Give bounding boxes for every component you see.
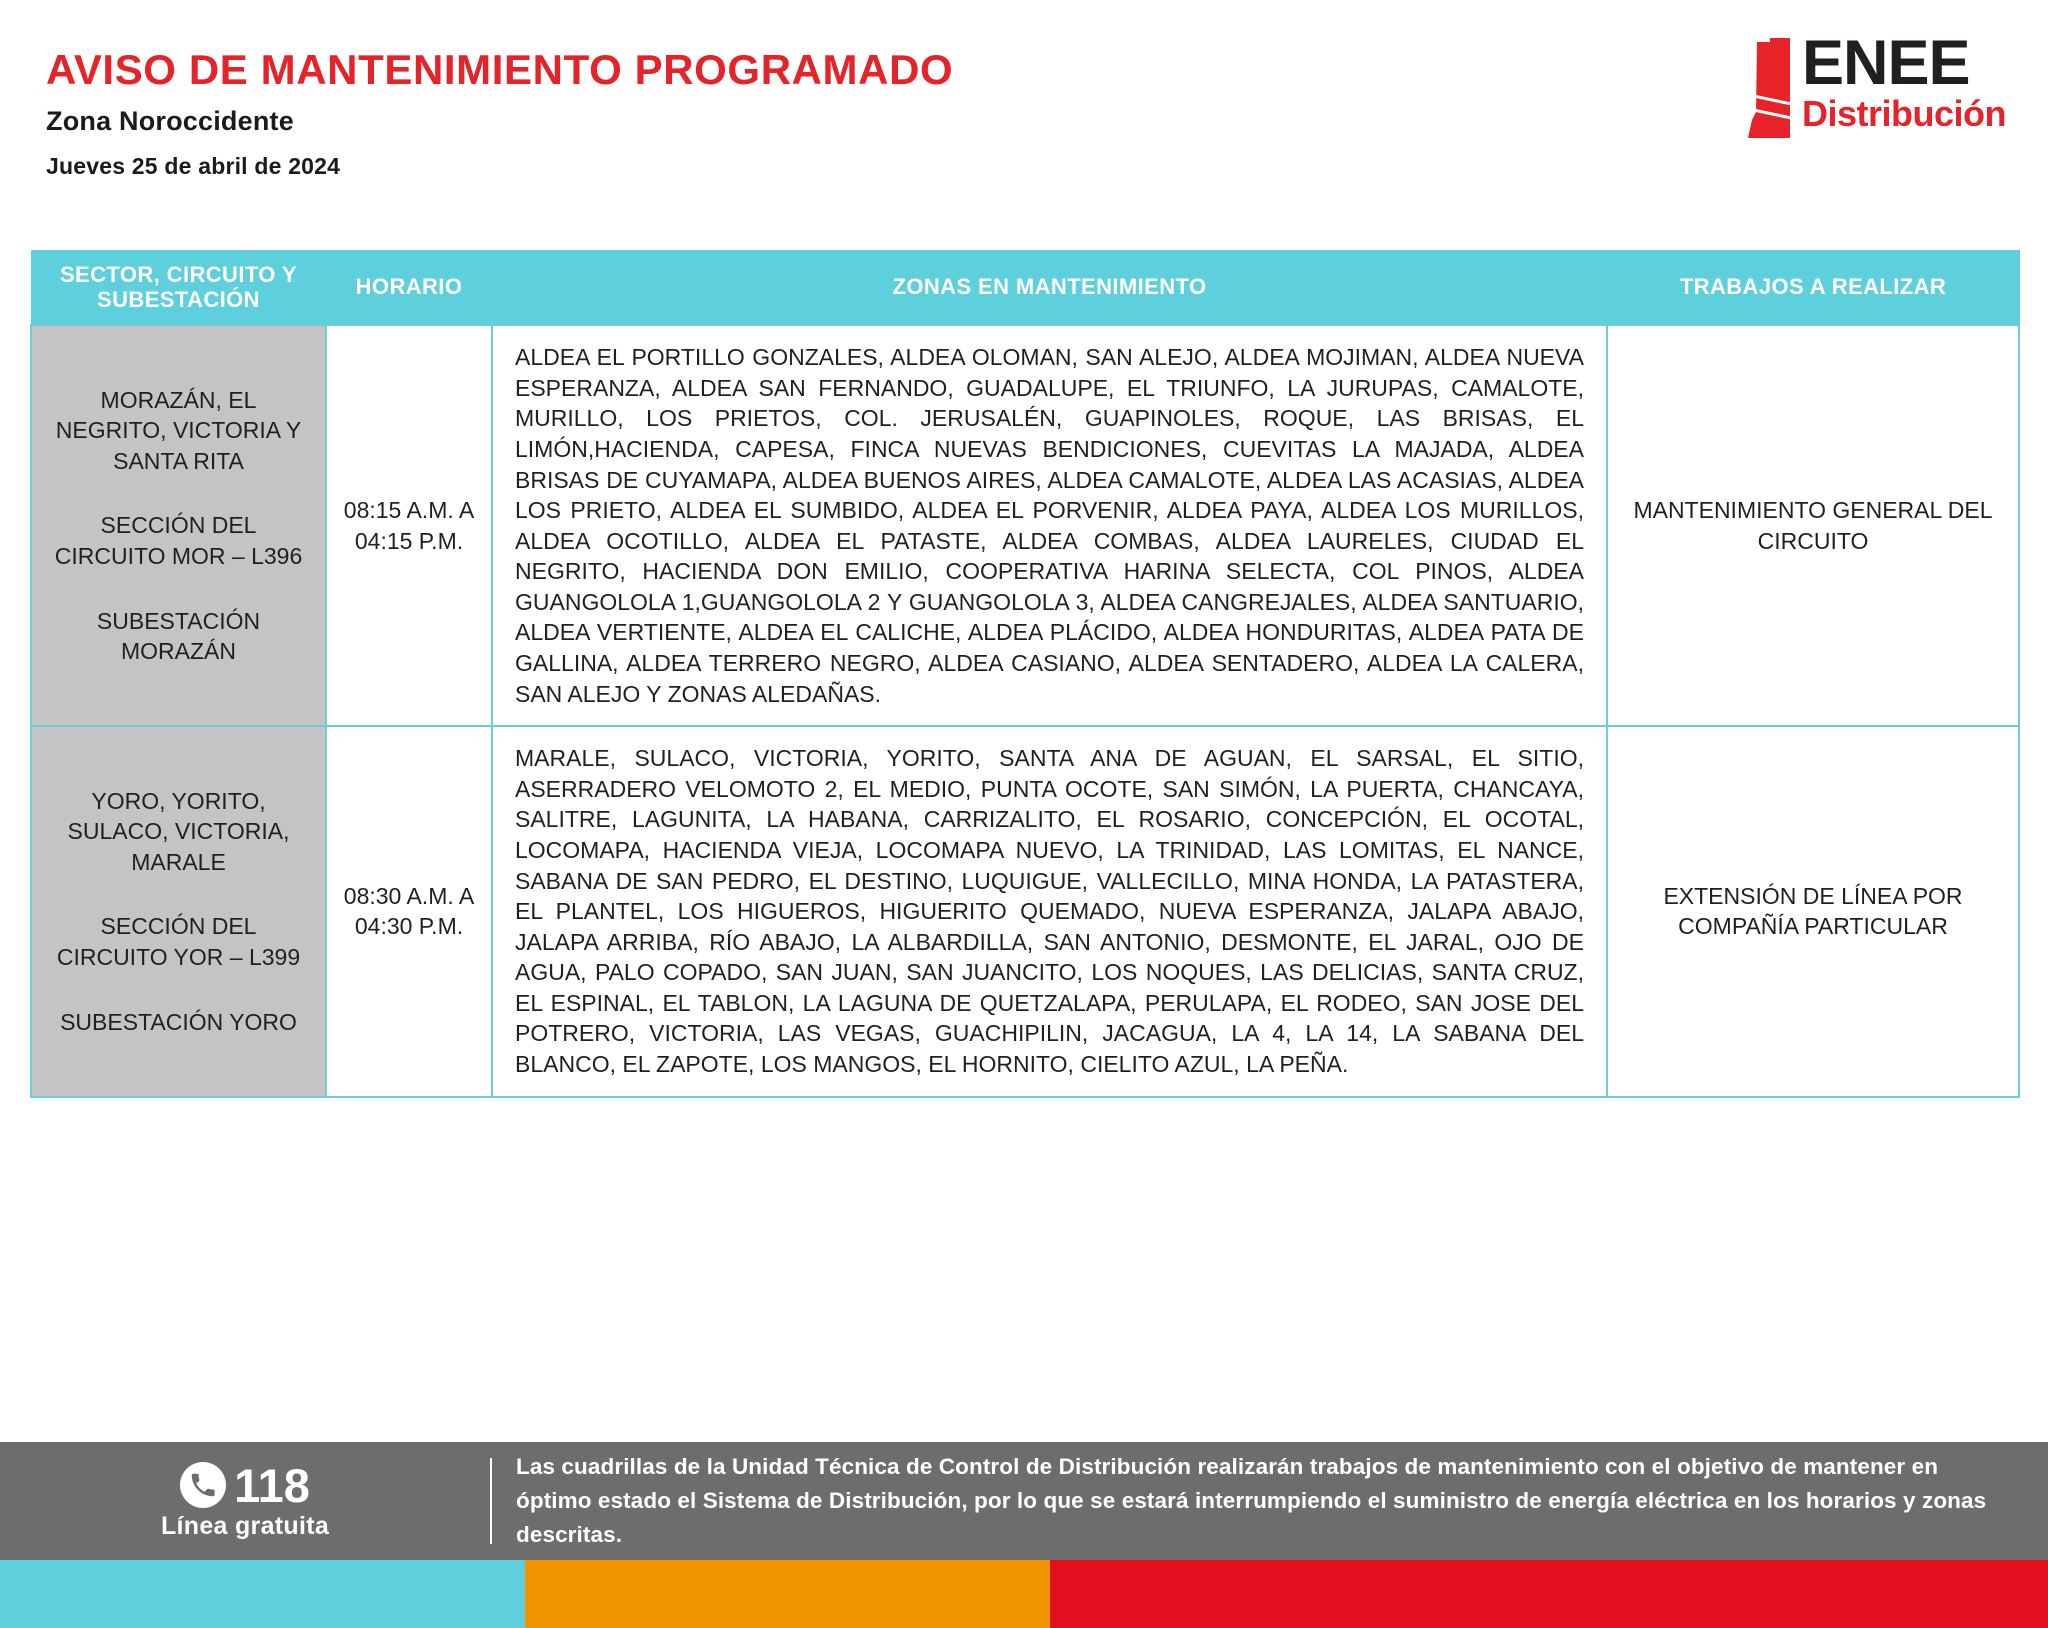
bottom-color-bar xyxy=(0,1560,2048,1628)
sector-name: MORAZÁN, EL NEGRITO, VICTORIA Y SANTA RI… xyxy=(52,385,305,477)
cell-horario: 08:15 A.M. A 04:15 P.M. xyxy=(326,325,492,726)
enee-logo: ENEE Distribución xyxy=(1740,38,2006,144)
cell-zonas: ALDEA EL PORTILLO GONZALES, ALDEA OLOMAN… xyxy=(492,325,1607,726)
schedule-table: SECTOR, CIRCUITO Y SUBESTACIÓN HORARIO Z… xyxy=(30,250,2020,1098)
col-header-horario: HORARIO xyxy=(326,251,492,326)
cell-zonas: MARALE, SULACO, VICTORIA, YORITO, SANTA … xyxy=(492,726,1607,1096)
cell-sector: MORAZÁN, EL NEGRITO, VICTORIA Y SANTA RI… xyxy=(31,325,326,726)
cell-trabajos: MANTENIMIENTO GENERAL DEL CIRCUITO xyxy=(1607,325,2019,726)
sector-name: YORO, YORITO, SULACO, VICTORIA, MARALE xyxy=(52,786,305,878)
hotline-label: Línea gratuita xyxy=(161,1512,329,1541)
sector-circuit: SECCIÓN DEL CIRCUITO YOR – L399 xyxy=(52,911,305,972)
hotline-block: 118 Línea gratuita xyxy=(0,1462,490,1541)
footer-bar: 118 Línea gratuita Las cuadrillas de la … xyxy=(0,1442,2048,1560)
col-header-trabajos: TRABAJOS A REALIZAR xyxy=(1607,251,2019,326)
footer-notice-text: Las cuadrillas de la Unidad Técnica de C… xyxy=(492,1450,2048,1553)
table-row: MORAZÁN, EL NEGRITO, VICTORIA Y SANTA RI… xyxy=(31,325,2019,726)
pylon-icon xyxy=(1740,38,1796,144)
schedule-table-wrapper: SECTOR, CIRCUITO Y SUBESTACIÓN HORARIO Z… xyxy=(30,250,2018,1098)
color-segment-cyan xyxy=(0,1560,525,1628)
cell-trabajos: EXTENSIÓN DE LÍNEA POR COMPAÑÍA PARTICUL… xyxy=(1607,726,2019,1096)
color-segment-red xyxy=(1050,1560,2048,1628)
sector-substation: SUBESTACIÓN MORAZÁN xyxy=(52,606,305,667)
logo-brand-text: ENEE xyxy=(1802,38,2006,90)
page-header: AVISO DE MANTENIMIENTO PROGRAMADO Zona N… xyxy=(0,0,2048,250)
col-header-sector: SECTOR, CIRCUITO Y SUBESTACIÓN xyxy=(31,251,326,326)
table-row: YORO, YORITO, SULACO, VICTORIA, MARALE S… xyxy=(31,726,2019,1096)
sector-substation: SUBESTACIÓN YORO xyxy=(52,1007,305,1038)
sector-circuit: SECCIÓN DEL CIRCUITO MOR – L396 xyxy=(52,510,305,571)
logo-subtitle-text: Distribución xyxy=(1802,94,2006,134)
phone-icon xyxy=(180,1462,226,1508)
notice-date: Jueves 25 de abril de 2024 xyxy=(46,153,2048,180)
cell-sector: YORO, YORITO, SULACO, VICTORIA, MARALE S… xyxy=(31,726,326,1096)
hotline-number: 118 xyxy=(234,1462,310,1509)
cell-horario: 08:30 A.M. A 04:30 P.M. xyxy=(326,726,492,1096)
table-header-row: SECTOR, CIRCUITO Y SUBESTACIÓN HORARIO Z… xyxy=(31,251,2019,326)
col-header-zonas: ZONAS EN MANTENIMIENTO xyxy=(492,251,1607,326)
color-segment-orange xyxy=(525,1560,1050,1628)
